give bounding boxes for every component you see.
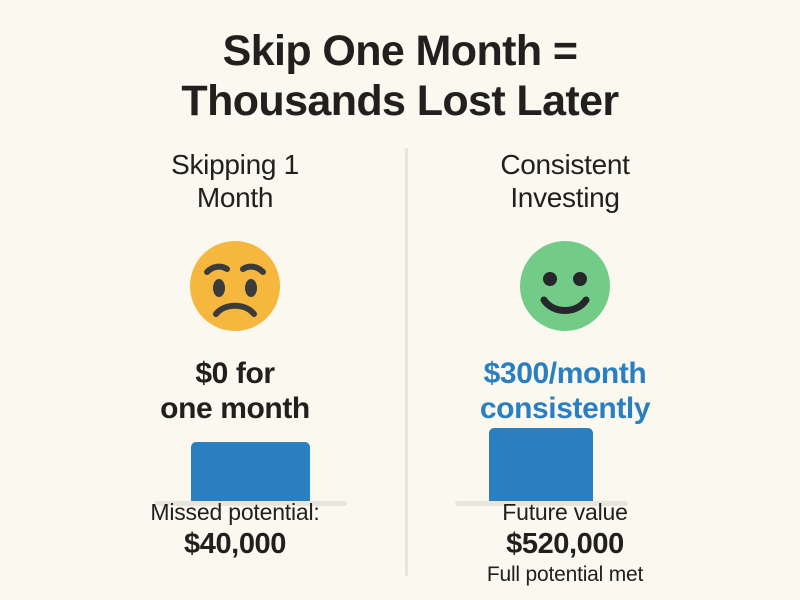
right-caption-label: Future value [400, 498, 730, 526]
left-heading-line-1: Skipping 1 [70, 148, 400, 181]
right-bar-chart [400, 410, 730, 510]
column-skipping: Skipping 1 Month $0 for one month Missed… [70, 148, 400, 426]
title-line-2: Thousands Lost Later [0, 76, 800, 126]
left-column-heading: Skipping 1 Month [70, 148, 400, 214]
infographic-canvas: Skip One Month = Thousands Lost Later Sk… [0, 0, 800, 600]
column-consistent: Consistent Investing $300/month consiste… [400, 148, 730, 426]
sad-face-icon [70, 238, 400, 334]
right-amount-line-1: $300/month [400, 356, 730, 391]
left-caption: Missed potential: $40,000 [70, 498, 400, 562]
title-line-1: Skip One Month = [0, 26, 800, 76]
page-title: Skip One Month = Thousands Lost Later [0, 26, 800, 126]
left-bar [191, 442, 310, 501]
right-heading-line-1: Consistent [400, 148, 730, 181]
right-caption-note: Full potential met [400, 562, 730, 588]
left-heading-line-2: Month [70, 181, 400, 214]
right-caption-value: $520,000 [400, 526, 730, 562]
right-heading-line-2: Investing [400, 181, 730, 214]
left-amount-line-1: $0 for [70, 356, 400, 391]
left-bar-chart [70, 410, 400, 510]
right-caption: Future value $520,000 Full potential met [400, 498, 730, 588]
left-caption-label: Missed potential: [70, 498, 400, 526]
left-caption-value: $40,000 [70, 526, 400, 562]
right-column-heading: Consistent Investing [400, 148, 730, 214]
happy-face-icon [400, 238, 730, 334]
right-bar [489, 428, 593, 501]
